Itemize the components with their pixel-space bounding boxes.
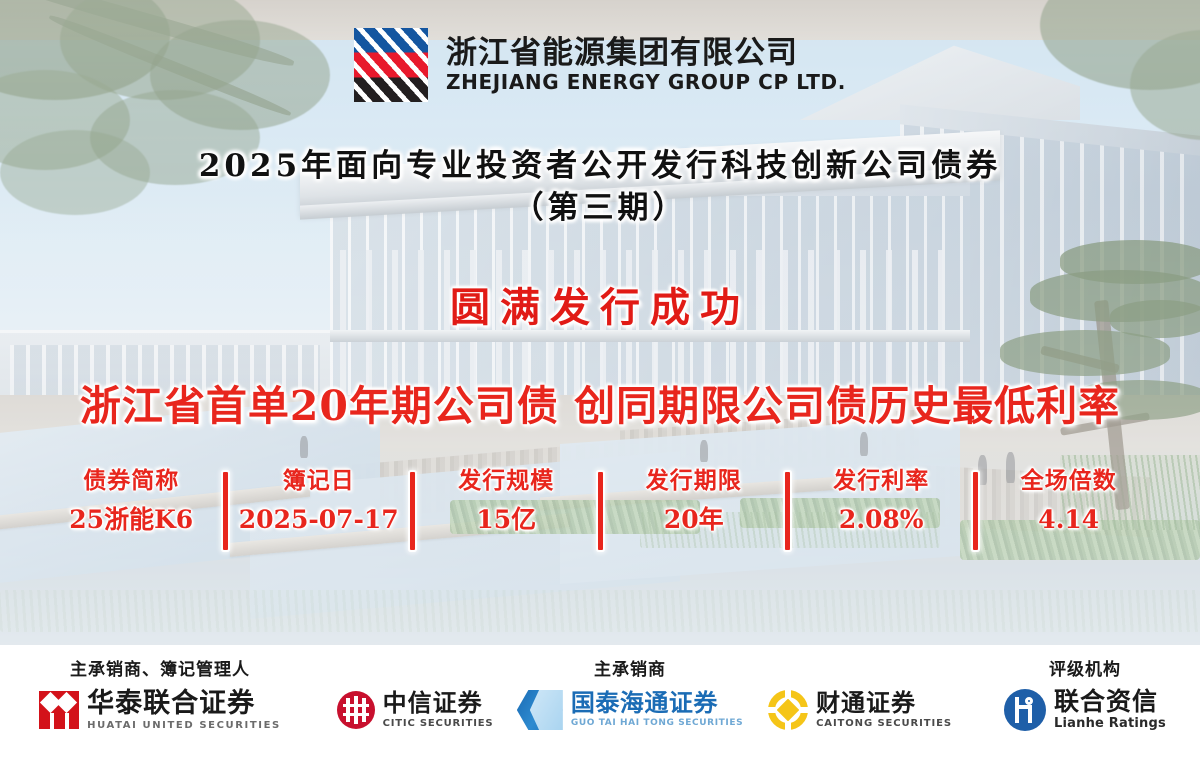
zhejiang-energy-logo-icon	[354, 28, 428, 102]
stat-value: 2.08%	[790, 502, 973, 538]
stat-value: 20年	[603, 502, 786, 538]
stat-item-tenor: 发行期限 20年	[603, 466, 786, 538]
stat-item-bond-name: 债券简称 25浙能K6	[40, 466, 223, 538]
stat-item-oversubscription: 全场倍数 4.14	[978, 466, 1161, 538]
brand-name-en: CAITONG SECURITIES	[816, 718, 952, 729]
stat-label: 全场倍数	[978, 466, 1161, 496]
brand-name-cn: 财通证券	[816, 691, 952, 717]
bond-stats-row: 债券简称 25浙能K6 簿记日 2025-07-17 发行规模 15亿 发行期限…	[40, 466, 1160, 550]
guotai-haitong-securities-logo: 国泰海通证券 GUO TAI HAI TONG SECURITIES	[517, 687, 743, 733]
lianhe-ratings-logo: 联合资信 Lianhe Ratings	[1004, 687, 1166, 733]
footer-group-title: 评级机构	[1049, 655, 1121, 679]
brand-name-en: Lianhe Ratings	[1054, 717, 1166, 731]
stat-item-issue-size: 发行规模 15亿	[415, 466, 598, 538]
citic-securities-logo: 中信证券 CITIC SECURITIES	[337, 687, 494, 733]
stat-label: 发行规模	[415, 466, 598, 496]
footer-group-rating-agency: 评级机构 联合资信 Lianhe Ratings	[970, 645, 1200, 733]
bond-issuance-announcement-poster: 浙江省能源集团有限公司 ZHEJIANG ENERGY GROUP CP LTD…	[0, 0, 1200, 775]
brand-name-en: CITIC SECURITIES	[383, 718, 494, 729]
footer-group-citic: 中信证券 CITIC SECURITIES	[320, 645, 510, 733]
footer-group-title: 主承销商、簿记管理人	[70, 655, 250, 679]
brand-name-cn: 联合资信	[1054, 688, 1166, 715]
stat-label: 债券简称	[40, 466, 223, 496]
brand-name-cn: 中信证券	[383, 691, 494, 717]
headline-primary: 圆满发行成功	[0, 275, 1200, 333]
bond-title-line1: 2025年面向专业投资者公开发行科技创新公司债券	[0, 146, 1200, 186]
footer-group-lead-underwriter: 主承销商 国泰海通证券 GUO TAI HAI TONG SECURITIES	[510, 645, 750, 733]
brand-name-cn: 国泰海通证券	[571, 691, 743, 717]
footer-group-caitong: 财通证券 CAITONG SECURITIES	[750, 645, 970, 733]
footer-group-lead-underwriter-bookrunner: 主承销商、簿记管理人 华泰联合证券 HUATAI UNITED SECURITI…	[0, 645, 320, 733]
stat-item-coupon-rate: 发行利率 2.08%	[790, 466, 973, 538]
brand-name-cn: 华泰联合证券	[87, 689, 281, 718]
headline-secondary: 浙江省首单20年期公司债 创同期限公司债历史最低利率	[0, 372, 1200, 432]
lianhe-mark-icon	[1004, 689, 1046, 731]
brand-name-en: HUATAI UNITED SECURITIES	[87, 720, 281, 731]
stat-value: 25浙能K6	[40, 502, 223, 538]
brand-name-en: GUO TAI HAI TONG SECURITIES	[571, 719, 743, 729]
stat-label: 簿记日	[228, 466, 411, 496]
logo-diagonal-stripes	[354, 28, 428, 102]
guotai-haitong-mark-icon	[517, 690, 563, 730]
company-name-en: ZHEJIANG ENERGY GROUP CP LTD.	[446, 72, 846, 93]
stat-value: 4.14	[978, 502, 1161, 538]
stat-label: 发行利率	[790, 466, 973, 496]
stat-value: 2025-07-17	[228, 502, 411, 538]
company-name-block: 浙江省能源集团有限公司 ZHEJIANG ENERGY GROUP CP LTD…	[446, 37, 846, 93]
huatai-united-securities-logo: 华泰联合证券 HUATAI UNITED SECURITIES	[39, 687, 281, 733]
stat-value: 15亿	[415, 502, 598, 538]
huatai-mark-icon	[39, 691, 79, 729]
company-name-cn: 浙江省能源集团有限公司	[446, 37, 846, 70]
footer-group-title: 主承销商	[594, 655, 666, 679]
caitong-securities-logo: 财通证券 CAITONG SECURITIES	[768, 687, 952, 733]
stat-item-bookbuilding-date: 簿记日 2025-07-17	[228, 466, 411, 538]
bond-title-block: 2025年面向专业投资者公开发行科技创新公司债券 （第三期）	[0, 146, 1200, 230]
caitong-mark-icon	[768, 690, 808, 730]
citic-mark-icon	[337, 691, 375, 729]
company-header: 浙江省能源集团有限公司 ZHEJIANG ENERGY GROUP CP LTD…	[0, 28, 1200, 102]
footer-partners: 主承销商、簿记管理人 华泰联合证券 HUATAI UNITED SECURITI…	[0, 645, 1200, 775]
stat-label: 发行期限	[603, 466, 786, 496]
bond-title-line2: （第三期）	[0, 186, 1200, 230]
